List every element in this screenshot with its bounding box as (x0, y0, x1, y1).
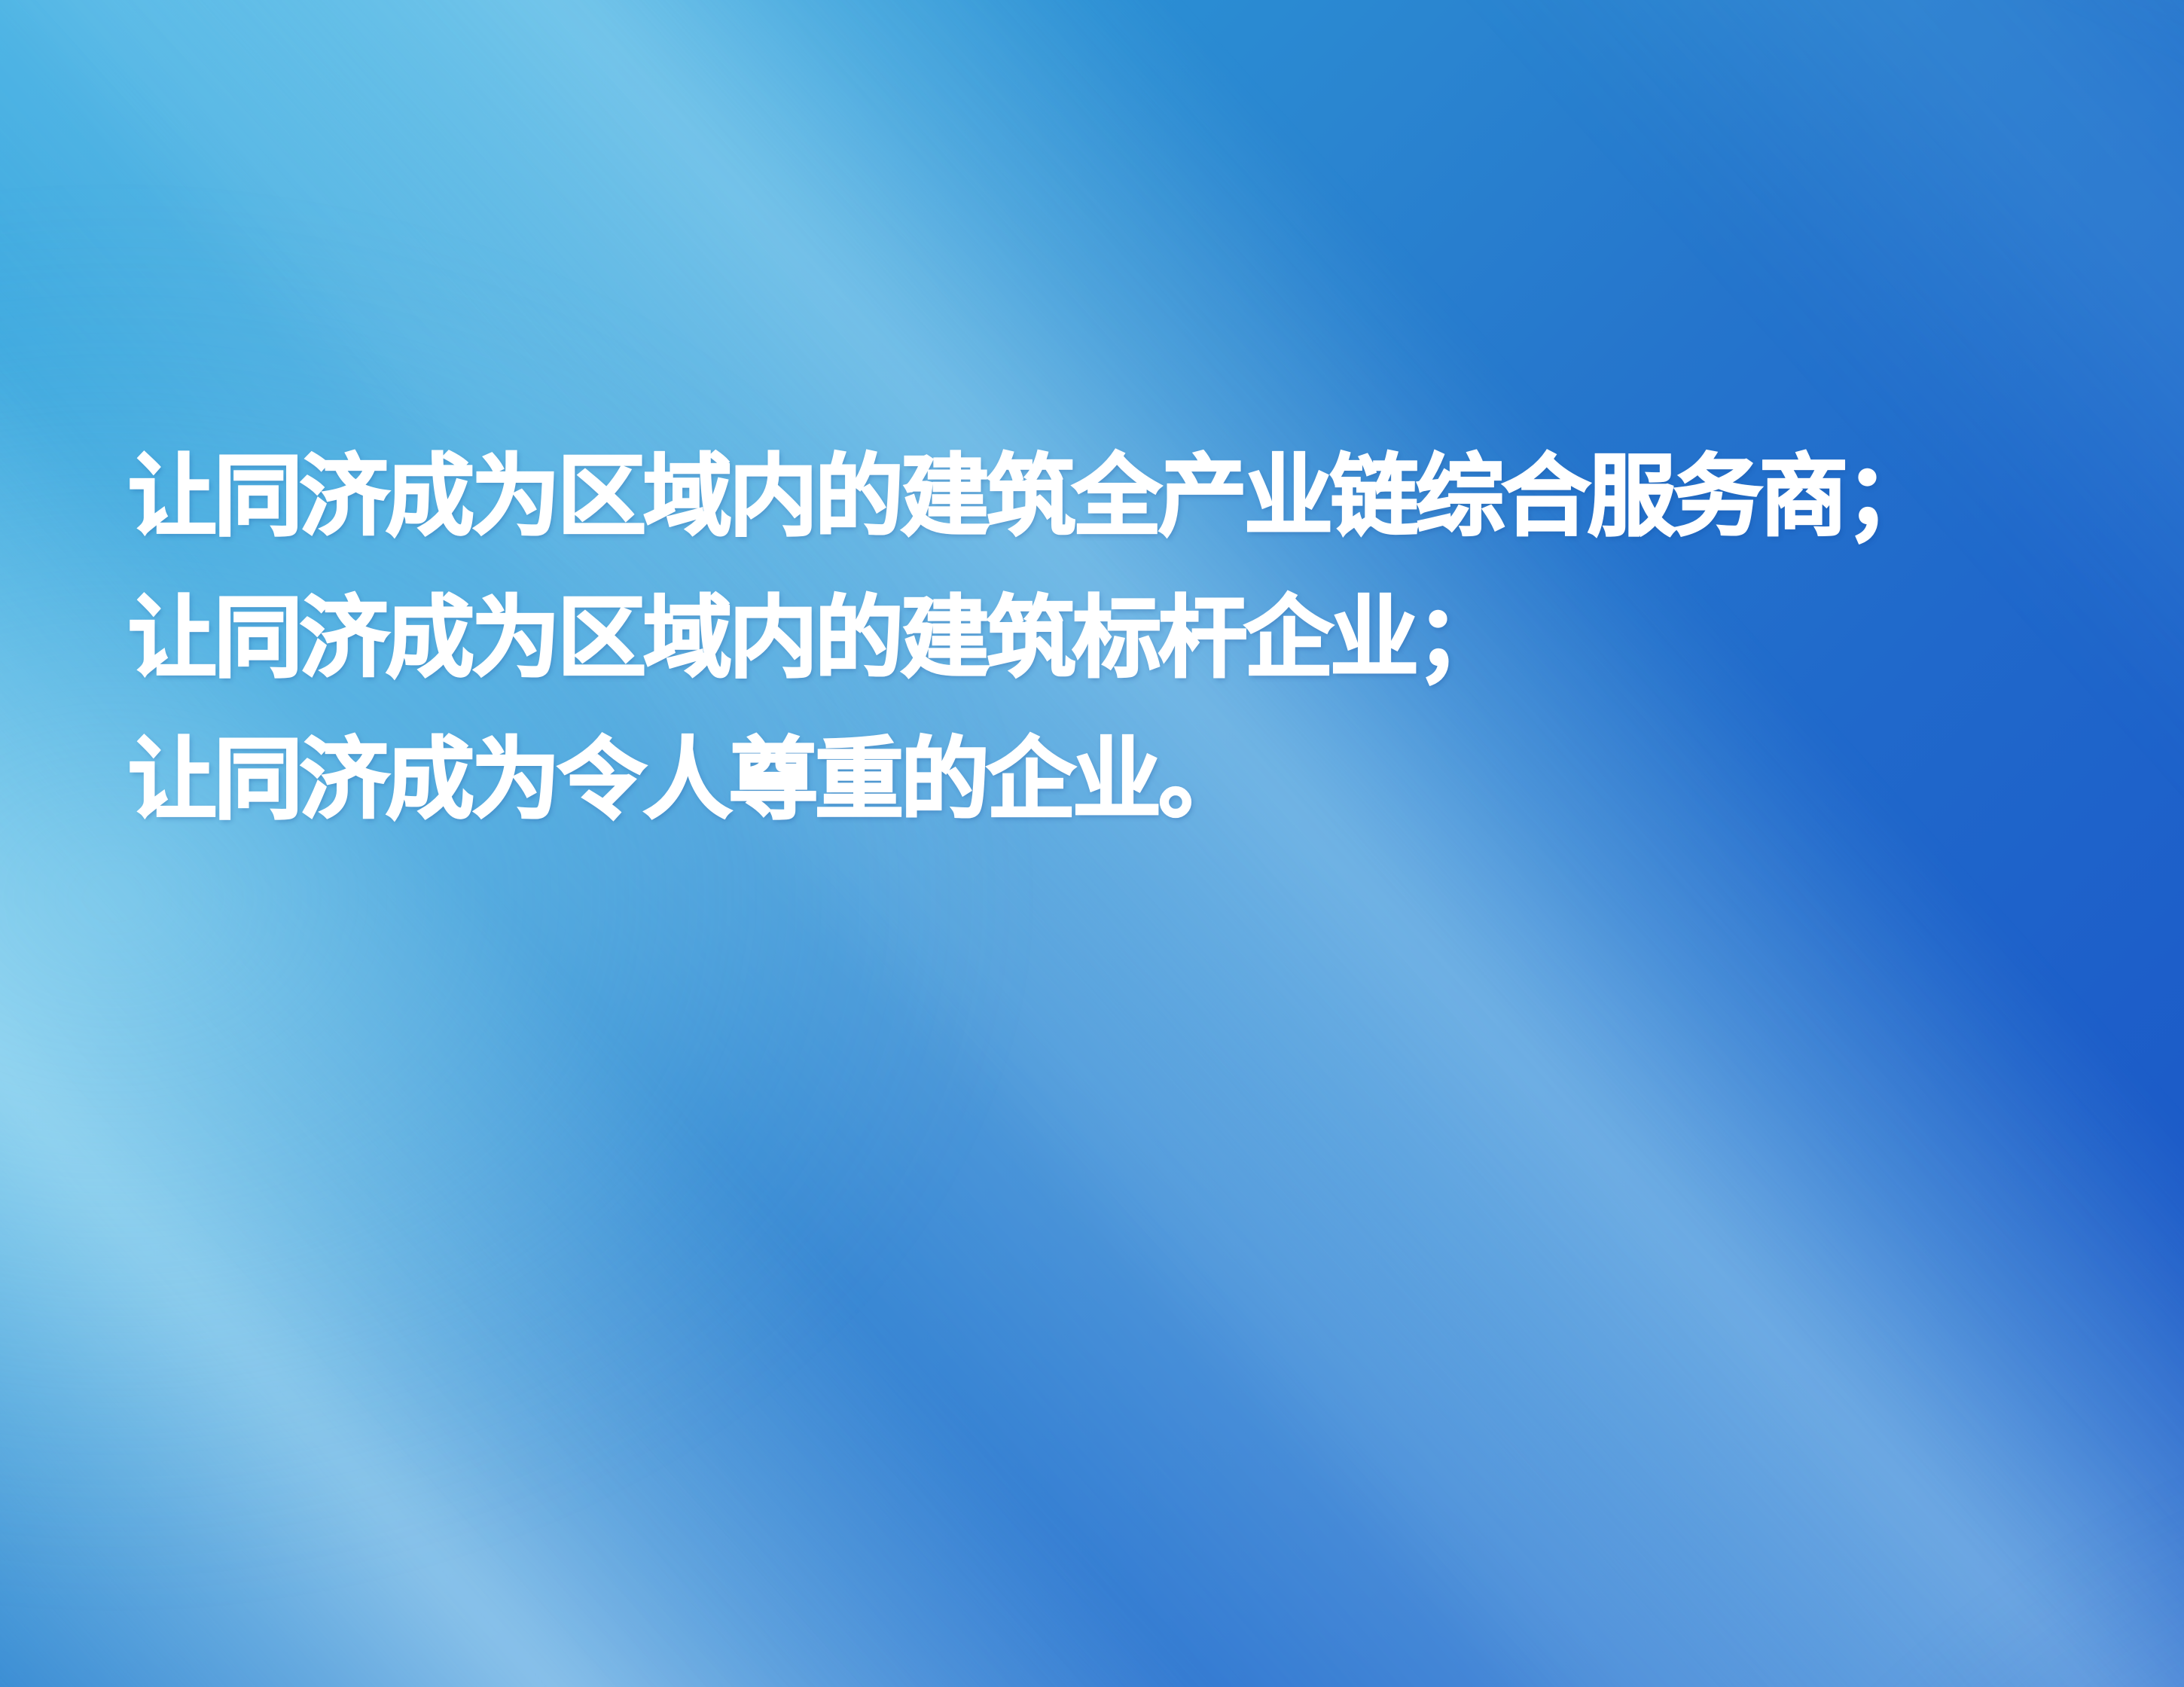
vision-statement-block: 让同济成为区域内的建筑全产业链综合服务商； 让同济成为区域内的建筑标杆企业； 让… (128, 452, 2086, 824)
vision-line-1: 让同济成为区域内的建筑全产业链综合服务商； (128, 452, 2086, 541)
background-streak-primary (0, 0, 2184, 1687)
vision-line-3: 让同济成为令人尊重的企业。 (128, 735, 2086, 824)
presentation-slide: 让同济成为区域内的建筑全产业链综合服务商； 让同济成为区域内的建筑标杆企业； 让… (0, 0, 2184, 1687)
background-glow (0, 0, 2184, 1687)
background-streak-secondary (0, 0, 2184, 1687)
vision-line-2: 让同济成为区域内的建筑标杆企业； (128, 593, 2086, 682)
background-corner-vignette (0, 0, 2184, 1687)
background-top-highlight (0, 0, 2184, 1687)
